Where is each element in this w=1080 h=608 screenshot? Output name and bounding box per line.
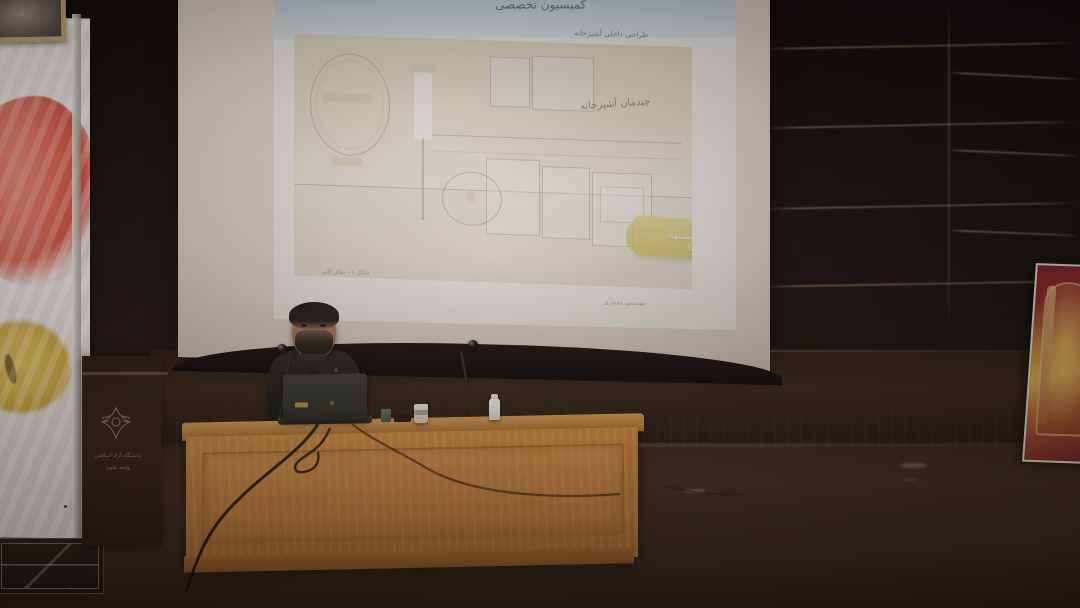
presenter-hair xyxy=(289,302,339,329)
presenter-eye-left xyxy=(301,324,307,327)
azad-panel-shelf xyxy=(82,372,168,375)
conference-hall-photo: کمیسیون تخصصی طراحی داخلی آشپزخانه سبک و… xyxy=(0,0,1080,608)
banner-base-stand xyxy=(0,538,104,594)
azad-university-panel xyxy=(82,356,162,546)
azad-university-subtitle: واحد علوم xyxy=(88,464,148,472)
azad-university-name: دانشگاه آزاد اسلامی xyxy=(88,452,148,460)
microphone-right-head xyxy=(468,340,478,350)
laptop-logo-icon xyxy=(330,401,334,405)
water-bottle[interactable] xyxy=(489,398,500,420)
azad-university-logo-icon xyxy=(96,404,136,444)
laptop-sticker xyxy=(295,402,308,407)
framed-picture xyxy=(0,0,66,43)
wall-corner-line xyxy=(948,0,950,330)
banner-grommet xyxy=(64,505,67,508)
floor-reflection-2 xyxy=(900,463,926,468)
dark-desk-object[interactable] xyxy=(394,414,411,422)
water-bottle-cap xyxy=(491,394,498,399)
microphone-left-head xyxy=(277,344,287,354)
desk-front-panel xyxy=(202,443,624,544)
green-box-item[interactable] xyxy=(381,409,391,422)
presenter-eye-right xyxy=(320,324,326,327)
banner-base-grid xyxy=(1,543,99,589)
laptop[interactable] xyxy=(283,373,367,420)
paper-cup[interactable] xyxy=(414,404,428,423)
paper-cup-band xyxy=(414,410,428,415)
floor-reflection-3 xyxy=(902,478,918,481)
speaker-desk-front xyxy=(186,427,638,567)
banner-pole xyxy=(72,14,81,542)
presenter-shirt-button xyxy=(334,368,338,372)
presenter-beard xyxy=(295,330,333,357)
floor-reflection-1 xyxy=(684,489,706,493)
framed-picture-image xyxy=(0,0,61,38)
